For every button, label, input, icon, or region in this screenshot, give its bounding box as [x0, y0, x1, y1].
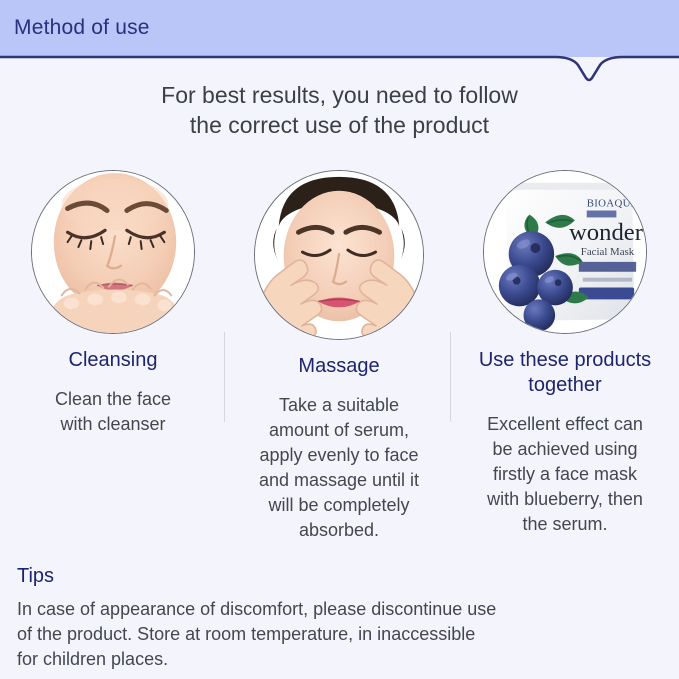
- cleansing-photo: [31, 170, 195, 334]
- step-body: Excellent effect can be achieved using f…: [452, 412, 678, 537]
- svg-text:wonder: wonder: [569, 219, 643, 246]
- step-body-line: be achieved using: [456, 437, 674, 462]
- tips-title: Tips: [17, 565, 665, 588]
- step-caption: Use these products together: [452, 348, 678, 398]
- step-caption-line-1: Use these: [479, 349, 569, 371]
- step-caption-line-1: Massage: [298, 355, 379, 377]
- step-body-line: the serum.: [456, 512, 674, 537]
- step-body-line: Take a suitable: [234, 393, 444, 418]
- step-caption-line-1: Cleansing: [69, 349, 158, 371]
- tips-body-line: In case of appearance of discomfort, ple…: [17, 597, 665, 622]
- intro-line-1: For best results, you need to follow: [0, 80, 679, 110]
- step-body-line: will be completely: [234, 493, 444, 518]
- step-body-line: amount of serum,: [234, 418, 444, 443]
- tips-body-line: of the product. Store at room temperatur…: [17, 622, 665, 647]
- step-body: Clean the face with cleanser: [0, 387, 226, 437]
- intro-heading: For best results, you need to follow the…: [0, 80, 679, 140]
- step-massage: Massage Take a suitable amount of serum,…: [226, 170, 452, 543]
- step-caption: Massage: [226, 354, 452, 379]
- tips-body-line: for children places.: [17, 647, 665, 672]
- step-caption: Cleansing: [0, 348, 226, 373]
- intro-line-2: the correct use of the product: [0, 110, 679, 140]
- step-products: BIOAQUA wonder Facial Mask: [452, 170, 678, 537]
- svg-text:BIOAQUA: BIOAQUA: [587, 198, 639, 210]
- step-body-line: with blueberry, then: [456, 487, 674, 512]
- tips-section: Tips In case of appearance of discomfort…: [17, 565, 665, 672]
- step-body-line: absorbed.: [234, 518, 444, 543]
- step-cleansing: Cleansing Clean the face with cleanser: [0, 170, 226, 437]
- step-body-line: apply evenly to face: [234, 443, 444, 468]
- step-body-line: with cleanser: [8, 412, 218, 437]
- step-body: Take a suitable amount of serum, apply e…: [226, 393, 452, 543]
- massage-photo: [254, 170, 424, 340]
- step-body-line: and massage until it: [234, 468, 444, 493]
- tips-body: In case of appearance of discomfort, ple…: [17, 597, 665, 672]
- step-body-line: firstly a face mask: [456, 462, 674, 487]
- step-body-line: Excellent effect can: [456, 412, 674, 437]
- page-title: Method of use: [14, 16, 150, 40]
- product-photo: BIOAQUA wonder Facial Mask: [483, 170, 647, 334]
- step-body-line: Clean the face: [8, 387, 218, 412]
- steps-container: Cleansing Clean the face with cleanser: [0, 170, 679, 560]
- svg-text:Facial Mask: Facial Mask: [581, 246, 635, 258]
